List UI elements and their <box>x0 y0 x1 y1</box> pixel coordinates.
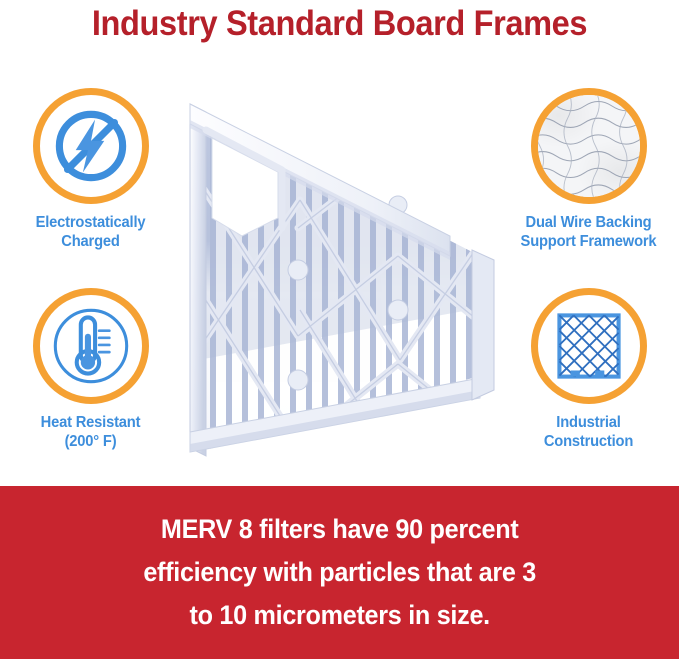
feature-label-4: Industrial Construction <box>501 413 677 451</box>
feature-label-3-line1: Dual Wire Backing <box>501 213 677 232</box>
product-image-pleated-air-filter <box>150 60 530 480</box>
feature-ring-1 <box>33 88 149 204</box>
no-static-lightning-icon <box>40 95 142 197</box>
feature-label-3-line2: Support Framework <box>501 232 677 251</box>
feature-label-4-line1: Industrial <box>501 413 677 432</box>
feature-label-1: Electrostatically Charged <box>3 213 179 251</box>
thermometer-icon <box>40 295 142 397</box>
feature-label-3: Dual Wire Backing Support Framework <box>501 213 677 251</box>
wire-mesh-pattern <box>538 95 640 197</box>
feature-label-1-line1: Electrostatically <box>3 213 179 232</box>
banner-line-2: efficiency with particles that are 3 <box>143 551 536 594</box>
merv-rating-banner: MERV 8 filters have 90 percent efficienc… <box>0 486 679 659</box>
page-title: Industry Standard Board Frames <box>24 2 655 46</box>
frame-left-post <box>190 104 206 456</box>
feature-ring-2 <box>33 288 149 404</box>
lattice-grid-icon <box>538 295 640 397</box>
feature-label-1-line2: Charged <box>3 232 179 251</box>
feature-label-2: Heat Resistant (200° F) <box>3 413 179 451</box>
feature-electrostatically-charged[interactable]: Electrostatically Charged <box>0 88 183 251</box>
feature-ring-3 <box>531 88 647 204</box>
wire-mesh-photo-icon <box>538 95 640 197</box>
feature-label-2-line2: (200° F) <box>3 432 179 451</box>
pleated-air-filter-3d-icon <box>150 60 530 480</box>
feature-ring-4 <box>531 288 647 404</box>
banner-text: MERV 8 filters have 90 percent efficienc… <box>118 508 560 637</box>
banner-line-1: MERV 8 filters have 90 percent <box>143 508 536 551</box>
feature-label-4-line2: Construction <box>501 432 677 451</box>
banner-line-3: to 10 micrometers in size. <box>143 594 536 637</box>
feature-industrial-construction[interactable]: Industrial Construction <box>496 288 679 451</box>
feature-dual-wire-backing[interactable]: Dual Wire Backing Support Framework <box>496 88 679 251</box>
feature-label-2-line1: Heat Resistant <box>3 413 179 432</box>
feature-heat-resistant[interactable]: Heat Resistant (200° F) <box>0 288 183 451</box>
frame-right-cap <box>472 250 494 400</box>
